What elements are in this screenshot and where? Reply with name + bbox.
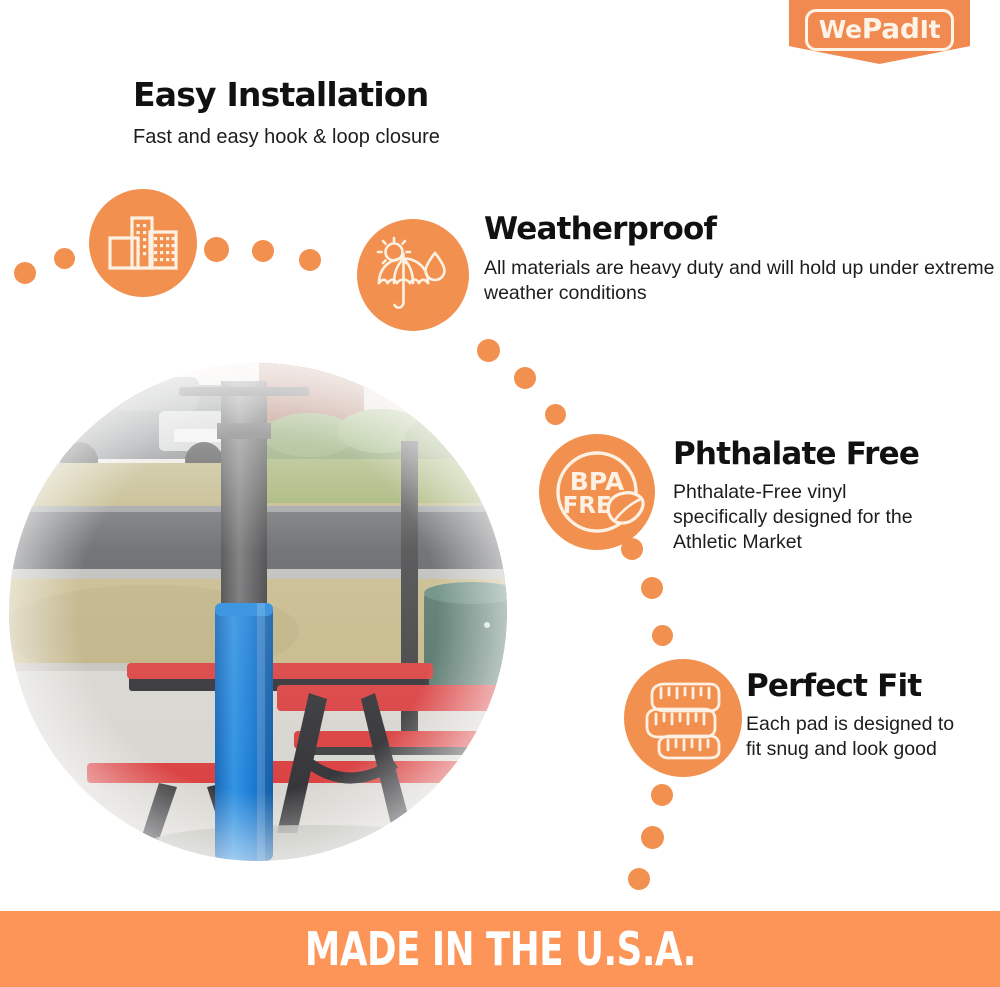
feature-description-phthalate-free: Phthalate-Free vinyl specifically design… <box>673 480 935 556</box>
trail-dot <box>252 240 274 262</box>
feature-block-perfect-fit: Perfect Fit Each pad is designed to fit … <box>746 670 974 762</box>
trail-dot <box>299 249 321 271</box>
trail-dot <box>14 262 36 284</box>
made-in-usa-banner: MADE IN THE U.S.A. <box>0 911 1000 987</box>
feature-block-weatherproof: Weatherproof All materials are heavy dut… <box>484 213 1000 306</box>
trail-dot <box>54 248 75 269</box>
trail-dot <box>652 625 673 646</box>
feature-title-perfect-fit: Perfect Fit <box>746 670 974 703</box>
trail-dot <box>545 404 566 425</box>
made-in-usa-text: MADE IN THE U.S.A. <box>304 922 695 976</box>
brand-logo-it: It <box>920 15 941 44</box>
feature-description-perfect-fit: Each pad is designed to fit snug and loo… <box>746 712 974 763</box>
bpa-line1-text: BPA <box>570 467 625 496</box>
feature-description-weatherproof: All materials are heavy duty and will ho… <box>484 256 1000 307</box>
brand-logo-text: WePadIt <box>819 15 941 44</box>
bpa-free-leaf-icon: BPA FREE <box>539 434 655 550</box>
feature-title-weatherproof: Weatherproof <box>484 213 1000 246</box>
feature-description-easy-installation: Fast and easy hook & loop closure <box>133 124 440 150</box>
trail-dot <box>651 784 673 806</box>
feature-block-easy-installation: Easy Installation Fast and easy hook & l… <box>133 78 440 150</box>
feature-block-phthalate-free: Phthalate Free Phthalate-Free vinyl spec… <box>673 438 935 556</box>
trail-dot <box>628 868 650 890</box>
brand-logo-we: We <box>819 15 862 44</box>
brand-logo-frame: WePadIt <box>805 9 955 51</box>
trail-dot <box>641 577 663 599</box>
trail-dot <box>641 826 664 849</box>
measuring-tape-icon <box>624 659 742 777</box>
feature-title-phthalate-free: Phthalate Free <box>673 438 935 471</box>
brand-logo-pad: Pad <box>862 12 920 45</box>
feature-title-easy-installation: Easy Installation <box>133 78 440 113</box>
trail-dot <box>204 237 229 262</box>
trail-dot <box>514 367 536 389</box>
trail-dot <box>477 339 500 362</box>
umbrella-sun-rain-icon <box>357 219 469 331</box>
infographic-page: WePadIt Easy Installation Fast and easy … <box>0 0 1000 987</box>
product-photo <box>9 363 507 861</box>
brand-logo: WePadIt <box>789 0 970 64</box>
building-icon <box>89 189 197 297</box>
